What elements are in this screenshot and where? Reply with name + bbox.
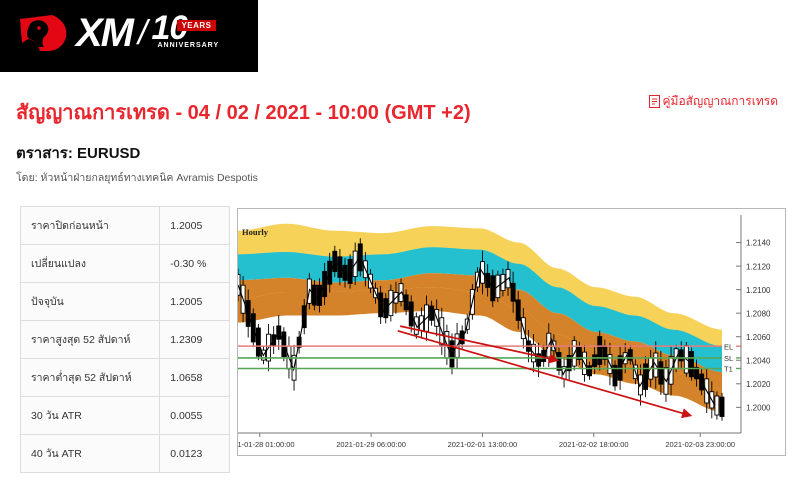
pdf-document-icon	[649, 95, 660, 108]
y-axis-tick-label: 1.2120	[746, 262, 771, 271]
table-row: 40 วัน ATR0.0123	[21, 435, 230, 473]
level-label-sl: SL	[724, 354, 733, 363]
xm-logo[interactable]: XM / 10 YEARS ANNIVERSARY	[18, 12, 217, 54]
logo-divider: /	[138, 14, 147, 52]
stat-value: -0.30 %	[160, 245, 230, 283]
bull-logo-icon	[18, 13, 74, 53]
stats-table-body: ราคาปิดก่อนหน้า1.2005เปลี่ยนแปลง-0.30 %ป…	[21, 207, 230, 473]
stat-label: เปลี่ยนแปลง	[21, 245, 160, 283]
x-axis-tick-label: 2021-02-03 23:00:00	[665, 440, 735, 449]
candle-body	[720, 397, 724, 416]
signals-page: XM / 10 YEARS ANNIVERSARY สัญญาณการเทรด …	[0, 0, 788, 481]
x-axis-tick-label: 2021-01-29 06:00:00	[336, 440, 406, 449]
x-axis-tick-label: 2021-02-02 18:00:00	[559, 440, 629, 449]
stat-label: ปัจจุบัน	[21, 283, 160, 321]
table-row: ราคาสูงสุด 52 สัปดาห์1.2309	[21, 321, 230, 359]
candle-body	[715, 396, 719, 415]
level-label-el: EL	[724, 342, 733, 351]
stat-value: 1.2309	[160, 321, 230, 359]
anniversary-word: ANNIVERSARY	[157, 42, 219, 49]
x-axis-tick-label: 2021-02-01 13:00:00	[448, 440, 518, 449]
table-row: 30 วัน ATR0.0055	[21, 397, 230, 435]
years-badge: YEARS	[177, 20, 215, 31]
level-label-t1: T1	[724, 365, 733, 374]
table-row: เปลี่ยนแปลง-0.30 %	[21, 245, 230, 283]
brand-header-bar: XM / 10 YEARS ANNIVERSARY	[0, 0, 258, 72]
guide-link-label: คู่มือสัญญาณการเทรด	[663, 92, 779, 111]
stat-label: ราคาต่ำสุด 52 สัปดาห์	[21, 359, 160, 397]
price-chart-svg: ELSLT11.21401.21201.21001.20801.20601.20…	[238, 209, 785, 455]
author-byline: โดย: หัวหน้าฝ่ายกลยุทธ์ทางเทคนิค Avramis…	[16, 169, 258, 186]
table-row: ราคาต่ำสุด 52 สัปดาห์1.0658	[21, 359, 230, 397]
stat-value: 0.0055	[160, 397, 230, 435]
table-row: ปัจจุบัน1.2005	[21, 283, 230, 321]
instrument-stats-table: ราคาปิดก่อนหน้า1.2005เปลี่ยนแปลง-0.30 %ป…	[20, 206, 230, 473]
y-axis-tick-label: 1.2140	[746, 239, 771, 248]
stat-label: ราคาสูงสุด 52 สัปดาห์	[21, 321, 160, 359]
y-axis-tick-label: 1.2100	[746, 286, 771, 295]
chart-title: Hourly	[242, 227, 269, 237]
stat-label: ราคาปิดก่อนหน้า	[21, 207, 160, 245]
y-axis-tick-label: 1.2040	[746, 356, 771, 365]
stat-value: 1.0658	[160, 359, 230, 397]
price-chart-panel[interactable]: ELSLT11.21401.21201.21001.20801.20601.20…	[237, 208, 786, 456]
stat-label: 40 วัน ATR	[21, 435, 160, 473]
instrument-label: ตราสาร: EURUSD	[16, 141, 140, 165]
y-axis-tick-label: 1.2060	[746, 333, 771, 342]
stat-value: 1.2005	[160, 207, 230, 245]
stat-value: 0.0123	[160, 435, 230, 473]
x-axis-tick-label: 2021-01-28 01:00:00	[238, 440, 295, 449]
anniversary-mark: 10 YEARS ANNIVERSARY	[151, 12, 217, 54]
trading-signals-guide-link[interactable]: คู่มือสัญญาณการเทรด	[649, 92, 779, 111]
y-axis-tick-label: 1.2080	[746, 309, 771, 318]
y-axis-tick-label: 1.2000	[746, 404, 771, 413]
xm-wordmark: XM	[76, 13, 132, 53]
stat-value: 1.2005	[160, 283, 230, 321]
table-row: ราคาปิดก่อนหน้า1.2005	[21, 207, 230, 245]
y-axis-tick-label: 1.2020	[746, 380, 771, 389]
stat-label: 30 วัน ATR	[21, 397, 160, 435]
page-title: สัญญาณการเทรด - 04 / 02 / 2021 - 10:00 (…	[16, 96, 471, 128]
